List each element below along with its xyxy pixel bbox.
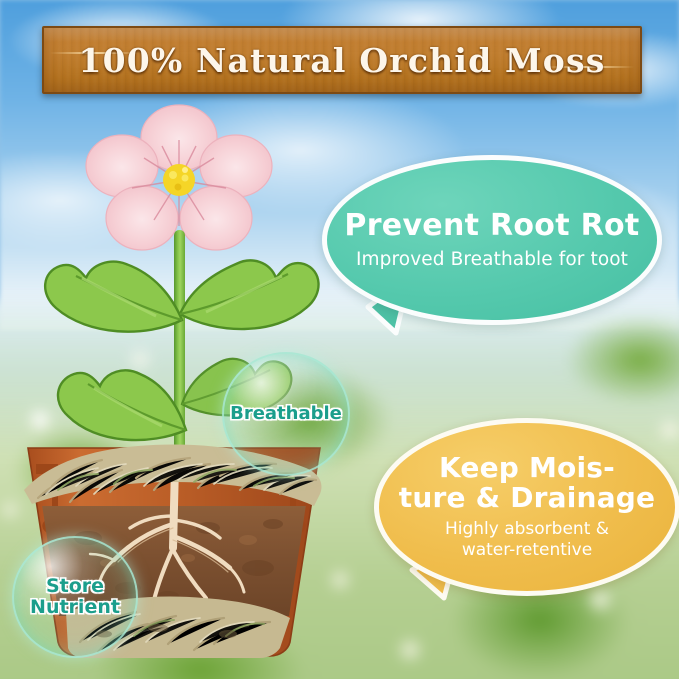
glass-bubble-store-nutrient: Store Nutrient bbox=[12, 536, 138, 658]
bubble-prevent-root-rot: Prevent Root Rot Improved Breathable for… bbox=[322, 155, 652, 315]
bubble-title-root-rot: Prevent Root Rot bbox=[344, 210, 639, 242]
bubble-subtitle-root-rot: Improved Breathable for toot bbox=[356, 249, 628, 270]
page-title: 100% Natural Orchid Moss bbox=[78, 41, 605, 80]
bubble-title-moisture-line2: ture & Drainage bbox=[399, 483, 655, 513]
bubble-body-teal: Prevent Root Rot Improved Breathable for… bbox=[322, 155, 662, 325]
infographic-canvas: 100% Natural Orchid Moss bbox=[0, 0, 679, 679]
bubble-subtitle-moisture-line2: water-retentive bbox=[462, 540, 592, 561]
wooden-sign-header: 100% Natural Orchid Moss bbox=[42, 26, 642, 94]
bubble-title-moisture-line1: Keep Mois- bbox=[439, 453, 615, 483]
bubble-keep-moisture-drainage: Keep Mois- ture & Drainage Highly absorb… bbox=[374, 418, 670, 586]
leaf-upper-left bbox=[36, 250, 186, 340]
glass-bubble-label-store-nutrient: Store Nutrient bbox=[30, 576, 120, 619]
bubble-subtitle-moisture-line1: Highly absorbent & bbox=[445, 519, 609, 540]
store-nutrient-line2: Nutrient bbox=[30, 597, 120, 618]
bubble-body-orange: Keep Mois- ture & Drainage Highly absorb… bbox=[374, 418, 679, 596]
glass-bubble-label-breathable: Breathable bbox=[230, 404, 342, 424]
store-nutrient-line1: Store bbox=[30, 576, 120, 597]
glass-bubble-breathable: Breathable bbox=[222, 352, 350, 476]
leaf-upper-right bbox=[176, 248, 328, 340]
